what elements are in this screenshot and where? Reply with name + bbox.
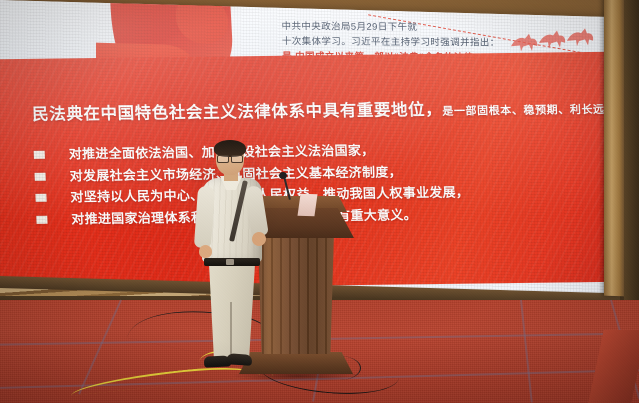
- room-right-edge: [624, 0, 639, 306]
- square-bullet-icon: [36, 215, 47, 223]
- speaker-shoe-right: [226, 353, 253, 366]
- square-bullet-icon: [34, 151, 45, 159]
- lens-left: [217, 155, 229, 163]
- photo-scene: 中共中央政治局5月29日下午就 十次集体学习。习近平在主持学习时强调并指出： 是…: [0, 0, 639, 403]
- list-item: 对发展社会主义市场经济、巩固社会主义基本经济制度，: [34, 161, 610, 184]
- speaker-trousers: [207, 264, 257, 360]
- speaker-hand-left: [199, 245, 212, 258]
- slide-headline-main: 民法典在中国特色社会主义法律体系中具有重要地位，: [32, 101, 443, 124]
- list-item: 对推进全面依法治国、加快建设社会主义法治国家，: [33, 140, 610, 163]
- square-bullet-icon: [35, 172, 46, 180]
- podium-papers: [297, 194, 317, 217]
- slide-headline: 民法典在中国特色社会主义法律体系中具有重要地位，是一部固根本、稳预期、利长远的基…: [32, 94, 610, 125]
- speaker-leg-seam: [230, 302, 232, 354]
- eyeglasses-icon: [217, 155, 243, 161]
- microphone-head-icon: [279, 172, 287, 179]
- screen-bezel-right: [604, 0, 626, 296]
- lens-right: [231, 155, 243, 163]
- slide-headline-tail: 是一部固根本、稳预期、利长远的基础性法律。: [442, 103, 610, 118]
- square-bullet-icon: [35, 194, 46, 202]
- speaker-figure: [186, 142, 278, 374]
- belt-buckle: [226, 259, 234, 265]
